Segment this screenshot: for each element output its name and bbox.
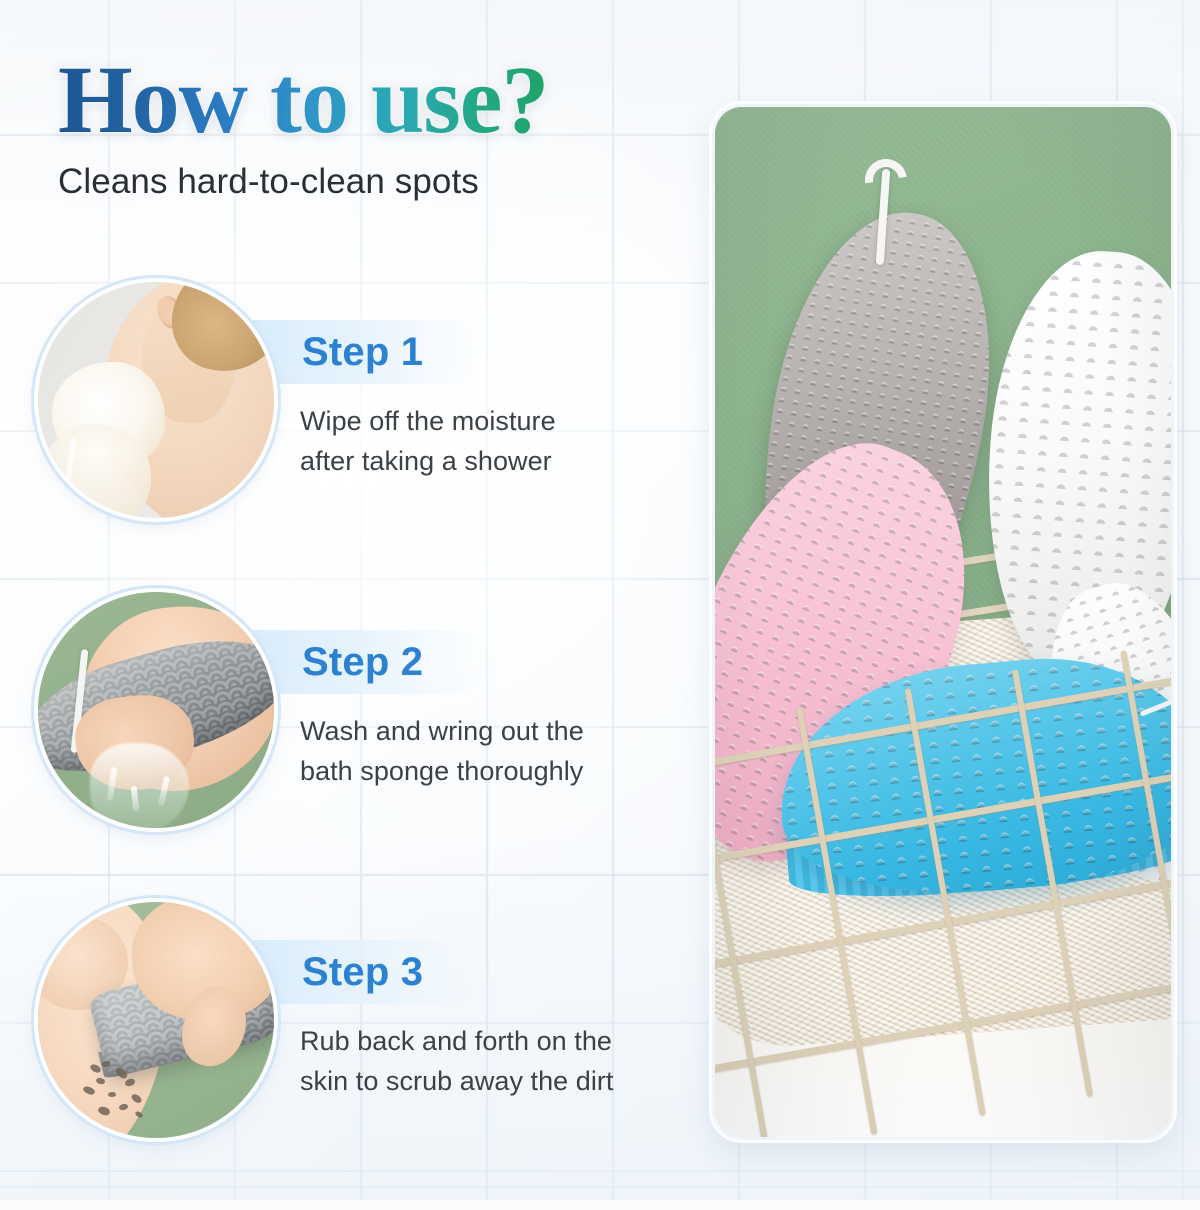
step-description-line-1: Wash and wring out the	[300, 712, 700, 752]
step-description-line-1: Rub back and forth on the	[300, 1022, 700, 1062]
step-description-3: Rub back and forth on the skin to scrub …	[300, 1022, 700, 1102]
step-description-line-2: skin to scrub away the dirt	[300, 1062, 700, 1102]
scrubbing-skin-scene	[38, 902, 274, 1138]
step-badge-label-1: Step 1	[302, 330, 423, 375]
step-item-2: Step 2 Wash and wring out the bath spong…	[0, 590, 700, 900]
step-photo-2	[38, 592, 274, 828]
wire-basket	[712, 640, 1174, 1140]
step-description-line-2: bath sponge thoroughly	[300, 752, 700, 792]
step-badge-label-2: Step 2	[302, 640, 423, 685]
step-photo-1	[38, 282, 274, 518]
step-badge-label-3: Step 3	[302, 950, 423, 995]
step-description-line-2: after taking a shower	[300, 442, 700, 482]
step-item-1: Step 1 Wipe off the moisture after takin…	[0, 282, 700, 592]
wringing-sponge-scene	[38, 592, 274, 828]
step-description-2: Wash and wring out the bath sponge thoro…	[300, 712, 700, 792]
header: How to use? Cleans hard-to-clean spots	[58, 52, 718, 202]
dirt-flakes	[71, 1058, 175, 1129]
step-item-3: Step 3 Rub back and forth on the skin to…	[0, 900, 700, 1210]
steps-list: Step 1 Wipe off the moisture after takin…	[0, 282, 700, 1210]
page-title: How to use?	[58, 52, 548, 148]
product-photo	[712, 104, 1174, 1140]
page-subtitle: Cleans hard-to-clean spots	[58, 162, 718, 202]
step-description-1: Wipe off the moisture after taking a sho…	[300, 402, 700, 482]
step-photo-3	[38, 902, 274, 1138]
step-description-line-1: Wipe off the moisture	[300, 402, 700, 442]
shower-loofah-scene	[38, 282, 274, 518]
